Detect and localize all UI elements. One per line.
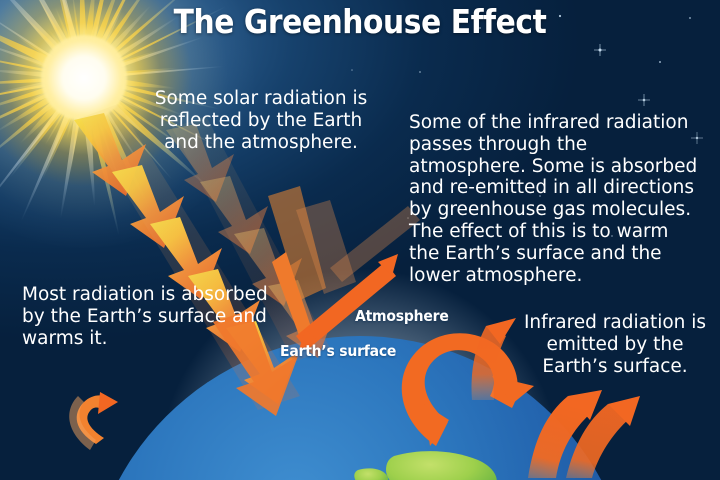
page-title: The Greenhouse Effect <box>0 2 720 41</box>
annotation-most-absorbed: Most radiation is absorbed by the Earth’… <box>22 284 292 349</box>
sun-core <box>41 35 127 121</box>
label-atmosphere: Atmosphere <box>355 307 449 325</box>
annotation-solar-reflected: Some solar radiation is reflected by the… <box>146 88 376 153</box>
greenhouse-effect-diagram: The Greenhouse Effect Some solar radiati… <box>0 0 720 480</box>
label-earth-surface: Earth’s surface <box>280 342 396 360</box>
annotation-infrared-absorbed: Some of the infrared radiation passes th… <box>409 112 699 287</box>
annotation-infrared-emitted: Infrared radiation is emitted by the Ear… <box>520 312 710 377</box>
